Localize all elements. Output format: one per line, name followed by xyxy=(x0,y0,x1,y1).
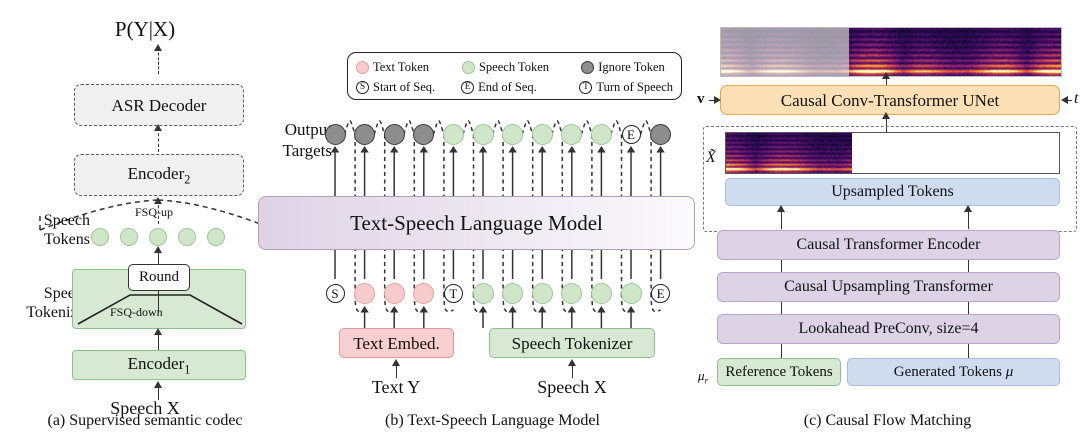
output-token-green xyxy=(502,124,523,145)
generated-tokens-label: Generated Tokens μ xyxy=(894,365,1014,380)
input-token-marker-t: T xyxy=(444,284,463,303)
arrow-encoder2-to-asr xyxy=(158,128,159,152)
input-token-marker-e: E xyxy=(651,284,670,303)
input-token-pink xyxy=(384,283,405,304)
arrowhead-unet-to-spectrogram xyxy=(882,72,890,79)
arrowhead-cond-to-unet xyxy=(882,112,890,119)
speech-token xyxy=(149,228,167,246)
reference-mel-image xyxy=(726,133,852,173)
panel-causal-flow-matching: Causal Conv-Transformer UNet v t X̃ Upsa… xyxy=(695,0,1080,438)
output-token-gray xyxy=(325,124,346,145)
encoder1-block: Encoder1 xyxy=(72,350,246,380)
caption-a: (a) Supervised semantic codec xyxy=(0,412,290,430)
arrowhead-encoder2-to-asr xyxy=(154,124,162,131)
tslm-label: Text-Speech Language Model xyxy=(350,213,603,234)
upsampled-tokens-label: Upsampled Tokens xyxy=(831,184,954,200)
output-token-marker-e: E xyxy=(622,125,641,144)
masked-mel-row xyxy=(725,132,1060,174)
caption-b: (b) Text-Speech Language Model xyxy=(290,412,695,430)
reference-tokens-block: Reference Tokens xyxy=(717,358,841,386)
speech-token xyxy=(207,228,225,246)
arrowhead-tokens-to-encoder2 xyxy=(154,197,162,204)
arrowhead-to-output xyxy=(154,44,162,51)
speech-tokens-label-line2: Tokens xyxy=(20,231,90,249)
reference-mel xyxy=(726,133,852,173)
round-label: Round xyxy=(139,270,179,285)
text-embed-block: Text Embed. xyxy=(339,328,454,358)
line-ups-pre-2 xyxy=(968,302,969,314)
line-pre-gen xyxy=(968,344,969,358)
encoder2-block: Encoder2 xyxy=(74,154,244,196)
asr-decoder-block: ASR Decoder xyxy=(74,84,244,126)
panel-text-speech-language-model: Text TokenSpeech TokenIgnore Token SStar… xyxy=(290,0,695,438)
input-token-green xyxy=(591,283,612,304)
line-fsq-to-round xyxy=(158,291,159,313)
encoder2-label: Encoder2 xyxy=(128,165,191,186)
lookahead-preconv-block: Lookahead PreConv, size=4 xyxy=(717,314,1060,344)
causal-upsampling-transformer-block: Causal Upsampling Transformer xyxy=(717,272,1060,302)
encoder1-label: Encoder1 xyxy=(128,355,191,376)
arrowhead-round-to-tokens xyxy=(154,246,162,253)
upsampling-transformer-label: Causal Upsampling Transformer xyxy=(784,279,993,295)
output-token-gray xyxy=(354,124,375,145)
speech-token xyxy=(91,228,109,246)
caption-c: (c) Causal Flow Matching xyxy=(695,412,1080,430)
output-token-green xyxy=(443,124,464,145)
preconv-label: Lookahead PreConv, size=4 xyxy=(799,321,979,337)
output-token-gray xyxy=(650,124,671,145)
arrowhead-gen-to-upsampled xyxy=(964,205,972,212)
speech-token xyxy=(120,228,138,246)
panel-supervised-semantic-codec: P(Y|X) ASR Decoder Encoder2 FSQ-up Speec… xyxy=(0,0,290,438)
x-tilde-label: X̃ xyxy=(706,149,716,167)
arrowhead-speech-input xyxy=(568,359,576,366)
input-token-green xyxy=(621,283,642,304)
arrow-to-output xyxy=(158,48,159,74)
line-ups-pre xyxy=(781,302,782,314)
output-token-green xyxy=(591,124,612,145)
input-token-green xyxy=(532,283,553,304)
output-token-gray xyxy=(384,124,405,145)
asr-decoder-label: ASR Decoder xyxy=(112,97,207,114)
input-token-green xyxy=(473,283,494,304)
reference-tokens-label: Reference Tokens xyxy=(725,365,832,380)
input-token-marker-s: S xyxy=(326,284,345,303)
generated-tokens-block: Generated Tokens μ xyxy=(847,358,1060,386)
output-token-green xyxy=(473,124,494,145)
unet-label: Causal Conv-Transformer UNet xyxy=(781,92,999,109)
panel-b-speech-input-label: Speech X xyxy=(512,377,632,397)
speech-tokenizer-label-b: Speech Tokenizer xyxy=(512,335,633,352)
arrowhead-t-into-unet xyxy=(1061,96,1068,104)
timestep-label: t xyxy=(1074,90,1078,108)
panel-b-text-input-label: Text Y xyxy=(336,377,456,397)
spectrogram-generated-part xyxy=(849,28,1061,76)
upsampled-tokens-block: Upsampled Tokens xyxy=(725,178,1060,206)
output-token-green xyxy=(532,124,553,145)
line-pre-ref xyxy=(781,344,782,358)
output-spectrogram xyxy=(720,27,1062,77)
arrowhead-ref-to-upsampled xyxy=(777,205,785,212)
panel-a-output-label: P(Y|X) xyxy=(0,18,290,42)
velocity-field-label: v xyxy=(697,91,705,108)
round-block: Round xyxy=(128,264,190,291)
input-token-pink xyxy=(354,283,375,304)
input-token-green xyxy=(502,283,523,304)
speech-tokenizer-block-b: Speech Tokenizer xyxy=(489,328,655,358)
arrowhead-v-into-unet xyxy=(714,96,721,104)
line-enc-ups xyxy=(781,260,782,272)
arrowhead-text-input xyxy=(392,359,400,366)
mu-r-label: μr xyxy=(698,369,708,387)
text-speech-language-model-block: Text-Speech Language Model xyxy=(258,196,695,250)
transformer-encoder-label: Causal Transformer Encoder xyxy=(797,237,981,253)
speech-tokens-label-line1: Speech xyxy=(20,212,90,230)
fsq-down-label: FSQ-down xyxy=(110,306,163,319)
spectrogram-reference-part xyxy=(721,28,849,76)
arrowhead-encoder1-to-tokenizer xyxy=(154,328,162,335)
causal-transformer-encoder-block: Causal Transformer Encoder xyxy=(717,230,1060,260)
line-enc-ups-2 xyxy=(968,260,969,272)
speech-token xyxy=(178,228,196,246)
fsq-up-label: FSQ-up xyxy=(132,206,176,219)
arrowhead-input-to-encoder1 xyxy=(154,381,162,388)
causal-conv-transformer-unet-block: Causal Conv-Transformer UNet xyxy=(720,85,1060,115)
text-embed-label: Text Embed. xyxy=(353,335,440,352)
